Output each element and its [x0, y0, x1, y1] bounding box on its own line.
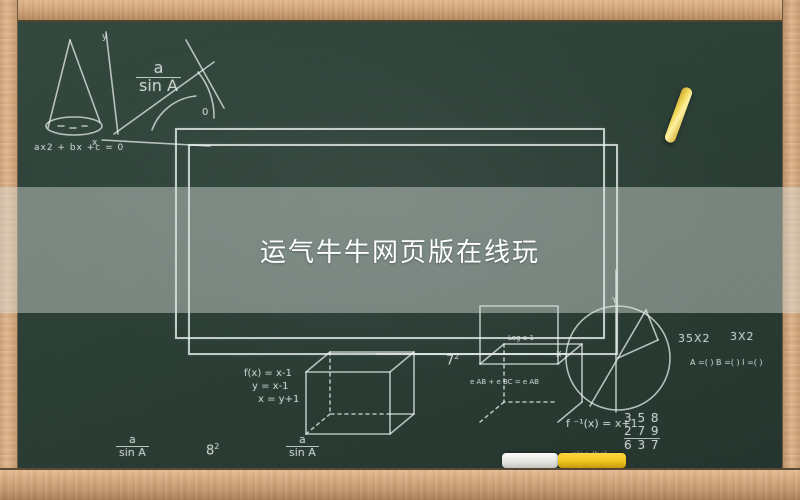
- angle-label-topleft: 0: [202, 107, 208, 118]
- x-axis-label-topleft: x: [92, 138, 97, 148]
- frame-bottom-ledge: [0, 468, 800, 500]
- vector-identity: e AB + e BC = e AB: [470, 378, 539, 386]
- sine-mid-den: sin A: [286, 447, 319, 459]
- sine-formula-left: a sin A: [116, 434, 149, 458]
- fn-line-1: f(x) = x-1: [244, 367, 299, 380]
- sum-row-2: 2 7 9: [624, 425, 660, 439]
- sine-formula-mid: a sin A: [286, 434, 319, 458]
- matrix-definitions: A =( ) B =( ) I =( ): [690, 358, 763, 367]
- y-axis-label-topleft: y: [102, 32, 107, 42]
- matrix-dim-label-1: 35X2: [678, 332, 711, 345]
- sum-row-3: 6 3 7: [624, 439, 660, 452]
- sine-left-num: a: [116, 434, 149, 447]
- yellow-chalk-on-ledge: [558, 453, 626, 468]
- addition-column: 3 5 8 2 7 9 6 3 7: [624, 412, 660, 452]
- eight-power: 2: [214, 442, 219, 451]
- chalkboard-banner-image: a sin A ax2 + bx +c = 0 y x 0 f(x) = x-1…: [0, 0, 800, 500]
- page-title: 运气牛牛网页版在线玩: [260, 232, 540, 269]
- frame-top-rail: [0, 0, 800, 22]
- fn-line-3: x = y+1: [244, 393, 299, 406]
- title-banner-overlay: 运气牛牛网页版在线玩: [0, 187, 800, 313]
- quadratic-equation: ax2 + bx +c = 0: [34, 143, 124, 153]
- law-of-sines-denominator: sin A: [136, 78, 181, 95]
- sine-mid-num: a: [286, 434, 319, 447]
- fn-line-2: y = x-1: [244, 380, 299, 393]
- eight-squared: 82: [206, 442, 219, 458]
- law-of-sines-formula: a sin A: [136, 60, 181, 95]
- function-definition-block: f(x) = x-1 y = x-1 x = y+1: [244, 367, 299, 406]
- white-chalk-on-ledge: [502, 453, 558, 468]
- sine-left-den: sin A: [116, 447, 149, 459]
- matrix-dim-label-2: 3X2: [730, 330, 755, 343]
